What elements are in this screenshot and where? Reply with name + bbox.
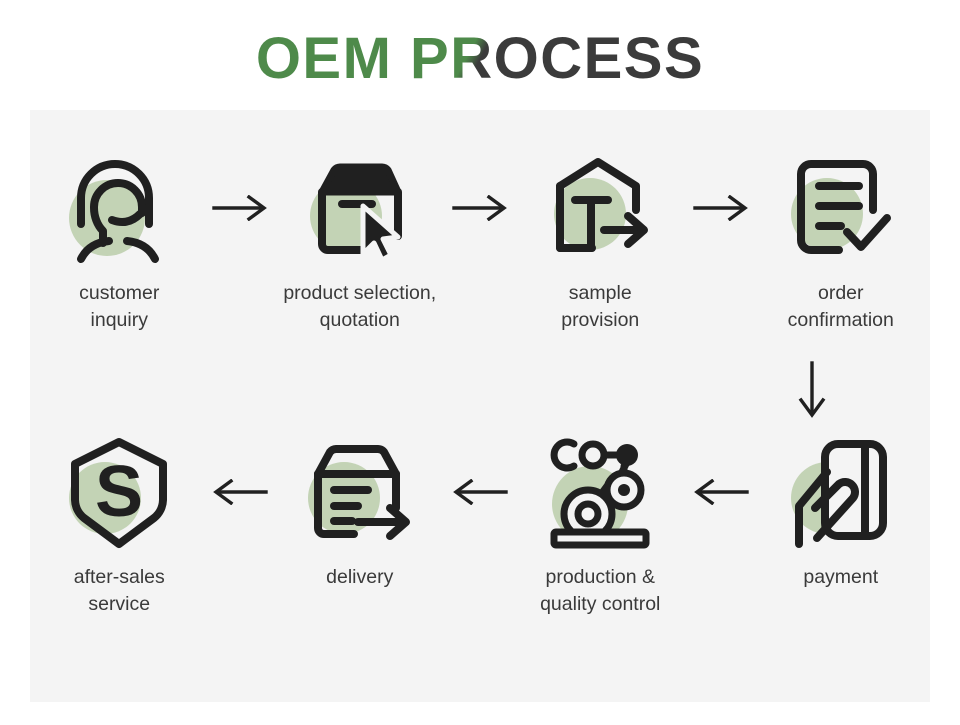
step-delivery[interactable]: delivery <box>279 432 442 591</box>
headset-support-icon <box>59 148 179 268</box>
connector-arrow-left <box>201 432 279 552</box>
process-diagram-panel: customer inquiry <box>30 110 930 702</box>
box-arrow-icon <box>300 432 420 552</box>
step-label: customer inquiry <box>79 280 159 334</box>
robot-arm-icon <box>540 432 660 552</box>
process-row-bottom: S after-sales service <box>30 432 930 618</box>
warehouse-exit-icon <box>540 148 660 268</box>
connector-arrow-right <box>682 148 760 268</box>
connector-arrow-right <box>441 148 519 268</box>
step-label: order confirmation <box>788 280 894 334</box>
page-title: OEM PROCESS <box>256 30 704 88</box>
step-production-quality-control[interactable]: production & quality control <box>519 432 682 618</box>
step-payment[interactable]: payment <box>760 432 923 591</box>
step-label: payment <box>803 564 878 591</box>
title-area: OEM PROCESS <box>0 0 960 110</box>
shield-s-icon: S <box>59 432 179 552</box>
step-sample-provision[interactable]: sample provision <box>519 148 682 334</box>
svg-text:S: S <box>95 452 143 532</box>
step-label: product selection, quotation <box>283 280 436 334</box>
connector-arrow-left <box>682 432 760 552</box>
box-cursor-icon <box>300 148 420 268</box>
step-after-sales-service[interactable]: S after-sales service <box>38 432 201 618</box>
step-label: sample provision <box>561 280 639 334</box>
connector-arrow-left <box>441 432 519 552</box>
connector-arrow-right <box>201 148 279 268</box>
step-customer-inquiry[interactable]: customer inquiry <box>38 148 201 334</box>
document-check-icon <box>781 148 901 268</box>
step-product-selection[interactable]: product selection, quotation <box>279 148 442 334</box>
step-label: delivery <box>326 564 393 591</box>
hand-card-icon <box>781 432 901 552</box>
connector-arrow-down <box>782 360 842 420</box>
process-row-top: customer inquiry <box>30 148 930 334</box>
step-label: production & quality control <box>540 564 660 618</box>
step-order-confirmation[interactable]: order confirmation <box>760 148 923 334</box>
step-label: after-sales service <box>74 564 165 618</box>
